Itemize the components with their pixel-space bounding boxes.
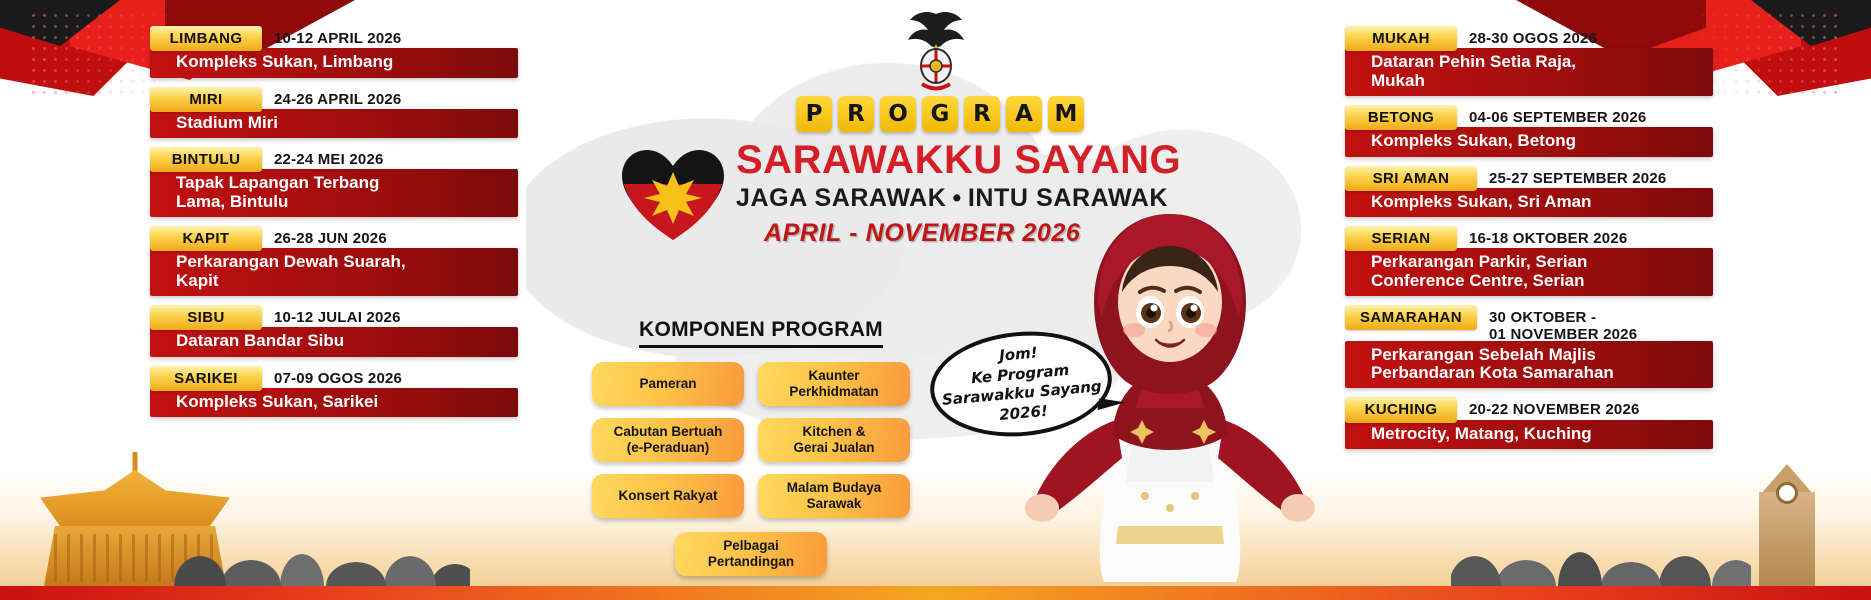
event-date: 30 OKTOBER - 01 NOVEMBER 2026 <box>1489 305 1637 344</box>
event-row[interactable]: KUCHING 20-22 NOVEMBER 2026 Metrocity, M… <box>1345 397 1713 449</box>
program-letter-tiles: P R O G R A M <box>736 96 1176 132</box>
event-row[interactable]: SIBU 10-12 JULAI 2026 Dataran Bandar Sib… <box>150 305 518 357</box>
event-date: 22-24 MEI 2026 <box>274 147 384 168</box>
clock-tower-illustration <box>1741 466 1833 586</box>
komponen-pill[interactable]: Pelbagai Pertandingan <box>675 532 827 576</box>
komponen-pill[interactable]: Malam Budaya Sarawak <box>758 474 910 518</box>
event-date: 28-30 OGOS 2026 <box>1469 26 1597 47</box>
komponen-pill[interactable]: Kaunter Perkhidmatan <box>758 362 910 406</box>
event-row[interactable]: KAPIT 26-28 JUN 2026 Perkarangan Dewah S… <box>150 226 518 296</box>
division-chip: SERIAN <box>1345 226 1457 251</box>
event-row[interactable]: SAMARAHAN 30 OKTOBER - 01 NOVEMBER 2026 … <box>1345 305 1713 388</box>
event-row[interactable]: BETONG 04-06 SEPTEMBER 2026 Kompleks Suk… <box>1345 105 1713 157</box>
wildlife-silhouettes-left <box>170 520 470 586</box>
brand-title: SARAWAKKU SAYANG <box>736 140 1176 180</box>
komponen-pill-grid: Pameran Kaunter Perkhidmatan Cabutan Ber… <box>592 362 922 576</box>
event-date: 07-09 OGOS 2026 <box>274 366 402 387</box>
event-venue: Kompleks Sukan, Betong <box>1345 127 1713 156</box>
event-row[interactable]: SRI AMAN 25-27 SEPTEMBER 2026 Kompleks S… <box>1345 166 1713 218</box>
program-tile-letter: P <box>796 96 832 132</box>
event-venue: Kompleks Sukan, Sarikei <box>150 388 518 417</box>
event-date: 24-26 APRIL 2026 <box>274 87 401 108</box>
event-date: 10-12 APRIL 2026 <box>274 26 401 47</box>
event-date: 16-18 OKTOBER 2026 <box>1469 226 1627 247</box>
komponen-pill[interactable]: Konsert Rakyat <box>592 474 744 518</box>
bottom-accent-rule <box>0 586 1871 600</box>
division-chip: LIMBANG <box>150 26 262 51</box>
program-tile-letter: G <box>922 96 958 132</box>
banner-stage: LIMBANG 10-12 APRIL 2026 Kompleks Sukan,… <box>0 0 1871 600</box>
event-venue: Tapak Lapangan Terbang Lama, Bintulu <box>150 169 518 217</box>
komponen-program-section: KOMPONEN PROGRAM Pameran Kaunter Perkhid… <box>592 318 922 576</box>
division-chip: BETONG <box>1345 105 1457 130</box>
program-tile-letter: R <box>964 96 1000 132</box>
event-list-right: MUKAH 28-30 OGOS 2026 Dataran Pehin Seti… <box>1345 26 1713 458</box>
event-list-left: LIMBANG 10-12 APRIL 2026 Kompleks Sukan,… <box>150 26 518 426</box>
event-row[interactable]: BINTULU 22-24 MEI 2026 Tapak Lapangan Te… <box>150 147 518 217</box>
event-date: 04-06 SEPTEMBER 2026 <box>1469 105 1646 126</box>
event-date: 26-28 JUN 2026 <box>274 226 387 247</box>
event-venue: Perkarangan Sebelah Majlis Perbandaran K… <box>1345 341 1713 389</box>
tagline-separator-dot: • <box>946 184 967 212</box>
komponen-pill[interactable]: Kitchen & Gerai Jualan <box>758 418 910 462</box>
tagline-left: JAGA SARAWAK <box>736 184 946 212</box>
event-venue: Perkarangan Parkir, Serian Conference Ce… <box>1345 248 1713 296</box>
division-chip: KUCHING <box>1345 397 1457 422</box>
event-row[interactable]: SERIAN 16-18 OKTOBER 2026 Perkarangan Pa… <box>1345 226 1713 296</box>
event-row[interactable]: MUKAH 28-30 OGOS 2026 Dataran Pehin Seti… <box>1345 26 1713 96</box>
program-tile-letter: A <box>1006 96 1042 132</box>
division-chip: KAPIT <box>150 226 262 251</box>
division-chip: MUKAH <box>1345 26 1457 51</box>
sarawak-state-crest <box>904 8 968 94</box>
event-venue: Kompleks Sukan, Sri Aman <box>1345 188 1713 217</box>
event-date: 10-12 JULAI 2026 <box>274 305 401 326</box>
program-tile-letter: O <box>880 96 916 132</box>
sarawak-heart-logo <box>618 144 728 244</box>
event-date: 20-22 NOVEMBER 2026 <box>1469 397 1640 418</box>
event-row[interactable]: MIRI 24-26 APRIL 2026 Stadium Miri <box>150 87 518 139</box>
division-chip: SIBU <box>150 305 262 330</box>
komponen-heading: KOMPONEN PROGRAM <box>639 318 883 348</box>
division-chip: BINTULU <box>150 147 262 172</box>
division-chip: SRI AMAN <box>1345 166 1477 191</box>
event-date: 25-27 SEPTEMBER 2026 <box>1489 166 1666 187</box>
program-tile-letter: R <box>838 96 874 132</box>
program-tile-letter: M <box>1048 96 1084 132</box>
event-venue: Stadium Miri <box>150 109 518 138</box>
division-chip: SARIKEI <box>150 366 262 391</box>
event-row[interactable]: LIMBANG 10-12 APRIL 2026 Kompleks Sukan,… <box>150 26 518 78</box>
division-chip: MIRI <box>150 87 262 112</box>
event-row[interactable]: SARIKEI 07-09 OGOS 2026 Kompleks Sukan, … <box>150 366 518 418</box>
event-venue: Metrocity, Matang, Kuching <box>1345 420 1713 449</box>
speech-bubble-text: Jom! Ke Program Sarawakku Sayang 2026! <box>938 338 1104 430</box>
komponen-pill[interactable]: Pameran <box>592 362 744 406</box>
event-venue: Kompleks Sukan, Limbang <box>150 48 518 77</box>
wildlife-silhouettes-right <box>1451 520 1751 586</box>
division-chip: SAMARAHAN <box>1345 305 1477 330</box>
komponen-pill[interactable]: Cabutan Bertuah (e-Peraduan) <box>592 418 744 462</box>
event-venue: Perkarangan Dewah Suarah, Kapit <box>150 248 518 296</box>
event-venue: Dataran Bandar Sibu <box>150 327 518 356</box>
event-venue: Dataran Pehin Setia Raja, Mukah <box>1345 48 1713 96</box>
